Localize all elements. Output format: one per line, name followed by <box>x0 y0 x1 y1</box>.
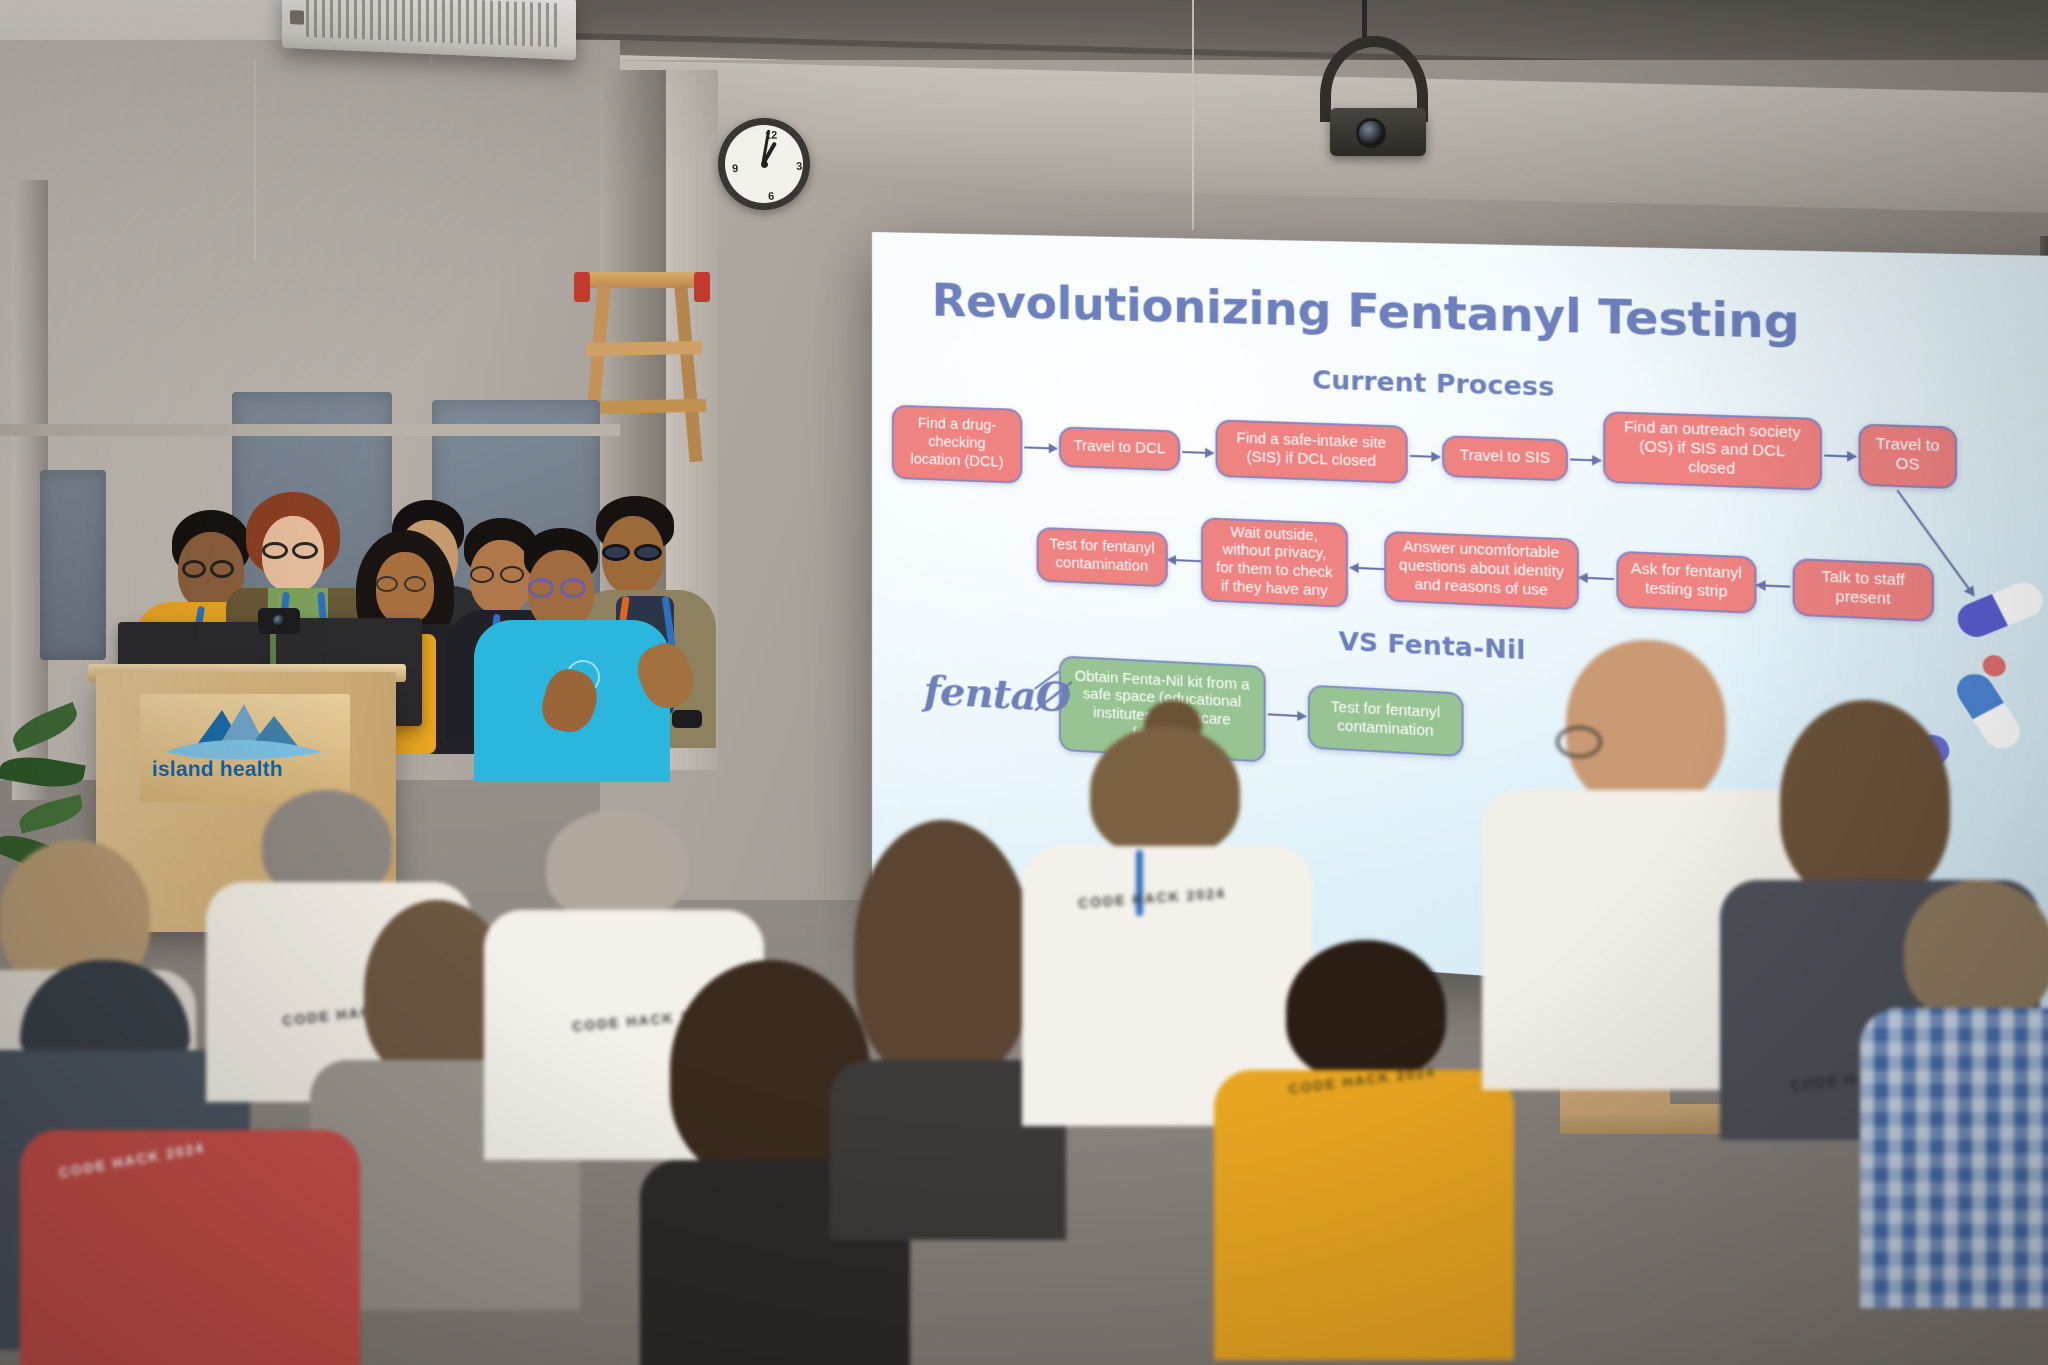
flow-node-r1-3: Travel to SIS <box>1442 435 1568 481</box>
flow-node-fenta-1: Test for fentanyl contamination <box>1308 685 1464 758</box>
section-heading-current-process: Current Process <box>1312 365 1554 402</box>
flow-arrow-r1-3 <box>1570 458 1601 461</box>
torso <box>1214 1070 1514 1360</box>
glasses-icon <box>376 576 398 592</box>
clock-center-pin <box>760 160 767 167</box>
presentation-scene: 12 3 6 9 Revolutionizing Fentanyl Testin… <box>0 0 2048 1365</box>
stage-wall-trim <box>0 424 620 436</box>
flow-arrow-r2-2 <box>1350 567 1384 571</box>
flow-node-r1-2: Find a safe-intake site (SIS) if DCL clo… <box>1216 419 1408 484</box>
clock-num-9: 9 <box>732 163 739 175</box>
hair <box>546 810 688 920</box>
flow-node-r1-5: Travel to OS <box>1858 423 1957 489</box>
plant-leaf <box>0 751 86 793</box>
flow-arrow-r2-3 <box>1168 559 1201 562</box>
baseball-cap <box>20 960 190 1056</box>
hair <box>1780 700 1950 900</box>
flow-node-r1-0: Find a drug-checking location (DCL) <box>892 405 1022 484</box>
flow-arrow-r1-2 <box>1410 455 1440 458</box>
head <box>1566 640 1726 810</box>
wall-clock: 12 3 6 9 <box>718 118 810 210</box>
island-health-logo <box>152 696 336 762</box>
flow-arrow-r2-1 <box>1579 577 1614 581</box>
audience-member-9 <box>1230 940 1500 1360</box>
glasses-icon <box>528 578 554 598</box>
glasses-icon-right <box>560 578 586 598</box>
hanging-wire-1 <box>254 60 256 260</box>
glasses-icon-right <box>210 560 234 578</box>
projector-lens <box>290 10 304 25</box>
section-heading-vs-fenta-nil: VS Fenta-Nil <box>1338 626 1525 665</box>
hair <box>1286 940 1446 1080</box>
glasses-icon-right <box>292 542 318 559</box>
camera-lens-icon <box>1356 118 1386 148</box>
hanging-wire-2 <box>1192 0 1194 230</box>
hair <box>1904 880 2048 1020</box>
clock-face: 12 3 6 9 <box>716 116 811 211</box>
acoustic-panel-left <box>40 470 106 660</box>
flow-node-r1-4: Find an outreach society (OS) if SIS and… <box>1603 411 1822 491</box>
hair <box>1090 726 1240 856</box>
flow-arrow-r1-0 <box>1024 446 1057 449</box>
decor-dot-red <box>1983 654 2006 677</box>
glasses-icon-right <box>404 576 426 592</box>
glasses-icon <box>1556 726 1602 758</box>
island-health-wordmark: island health <box>152 758 342 782</box>
audience-member-12 <box>1880 880 2048 1300</box>
decor-pill-purple-cap <box>1951 594 2008 642</box>
glasses-icon <box>182 560 206 578</box>
flow-node-r2-2: Answer uncomfortable questions about ide… <box>1384 531 1579 610</box>
flow-node-r1-1: Travel to DCL <box>1059 426 1180 471</box>
webcam-icon <box>258 608 300 634</box>
flow-node-r2-1: Ask for fentanyl testing strip <box>1616 551 1756 614</box>
flow-node-r2-4: Test for fentanyl contamination <box>1037 527 1168 588</box>
flow-arrow-r1-1 <box>1182 451 1213 454</box>
plant-leaf <box>8 702 83 752</box>
projector-vents <box>306 0 558 47</box>
slide-title: Revolutionizing Fentanyl Testing <box>932 273 1800 350</box>
flow-arrow-r2-0 <box>1757 584 1791 588</box>
hair <box>854 820 1032 1080</box>
clock-num-6: 6 <box>768 191 775 203</box>
torso <box>1860 1008 2048 1308</box>
flow-arrow-r1-4 <box>1824 454 1856 457</box>
presenter <box>470 528 680 778</box>
audience-row: CODE HACK 2024 CODE HACK 2024 <box>0 820 2048 1365</box>
flow-node-r2-0: Talk to staff present <box>1793 558 1934 622</box>
clock-num-3: 3 <box>796 161 803 173</box>
flow-node-r2-3: Wait outside, without privacy, for them … <box>1201 517 1348 608</box>
audience-member-13 <box>20 1070 360 1365</box>
glasses-icon <box>262 542 288 559</box>
fenta-nil-logo-text: fenta <box>924 667 1036 720</box>
